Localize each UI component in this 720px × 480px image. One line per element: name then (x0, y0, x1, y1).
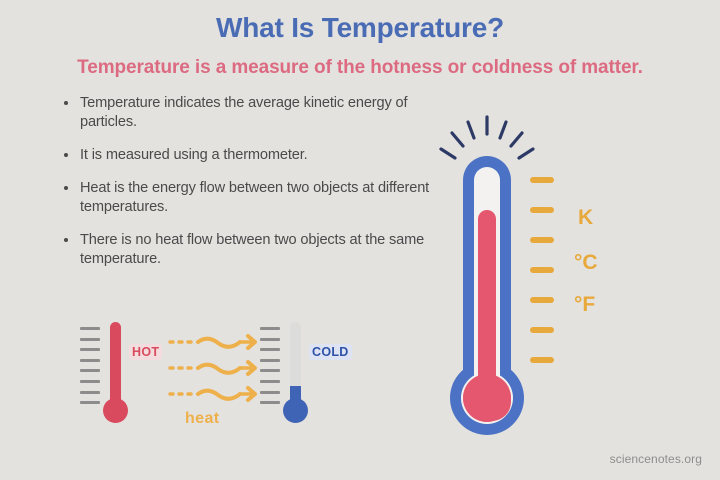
hot-thermometer-stem (110, 322, 121, 406)
scale-label-kelvin: K (578, 206, 593, 230)
list-item-label: There is no heat flow between two object… (80, 232, 424, 267)
page-subtitle: Temperature is a measure of the hotness … (0, 57, 720, 79)
heat-flow-label: heat (185, 410, 220, 428)
list-item: There is no heat flow between two object… (62, 231, 432, 269)
hot-label: HOT (129, 344, 162, 360)
scale-label-celsius: °C (574, 251, 598, 275)
bullet-dot-icon (64, 186, 68, 190)
list-item-label: Heat is the energy flow between two obje… (80, 180, 429, 215)
sparkle-rays-icon (441, 117, 533, 158)
list-item: It is measured using a thermometer. (62, 146, 432, 165)
infographic-canvas: What Is Temperature? Temperature is a me… (0, 0, 720, 480)
page-title: What Is Temperature? (0, 12, 720, 44)
list-item-label: Temperature indicates the average kineti… (80, 95, 407, 130)
bullet-dot-icon (64, 153, 68, 157)
cold-label: COLD (309, 344, 352, 360)
fact-list: Temperature indicates the average kineti… (62, 94, 432, 283)
bullet-dot-icon (64, 238, 68, 242)
cold-thermometer-bulb (283, 398, 308, 423)
hot-thermometer-bulb (103, 398, 128, 423)
hot-thermometer-ticks (80, 327, 100, 412)
cold-thermometer-icon: COLD (260, 322, 360, 432)
hot-thermometer-icon: HOT (80, 322, 160, 432)
main-thermometer-illustration: K °C °F (430, 108, 660, 438)
list-item: Heat is the energy flow between two obje… (62, 179, 432, 217)
thermometer-scale-ticks (530, 177, 554, 363)
list-item-label: It is measured using a thermometer. (80, 147, 308, 163)
source-credit: sciencenotes.org (610, 452, 702, 466)
cold-thermometer-ticks (260, 327, 280, 412)
heat-flow-diagram: HOT (80, 322, 360, 442)
scale-label-fahrenheit: °F (574, 293, 595, 317)
bullet-dot-icon (64, 101, 68, 105)
list-item: Temperature indicates the average kineti… (62, 94, 432, 132)
